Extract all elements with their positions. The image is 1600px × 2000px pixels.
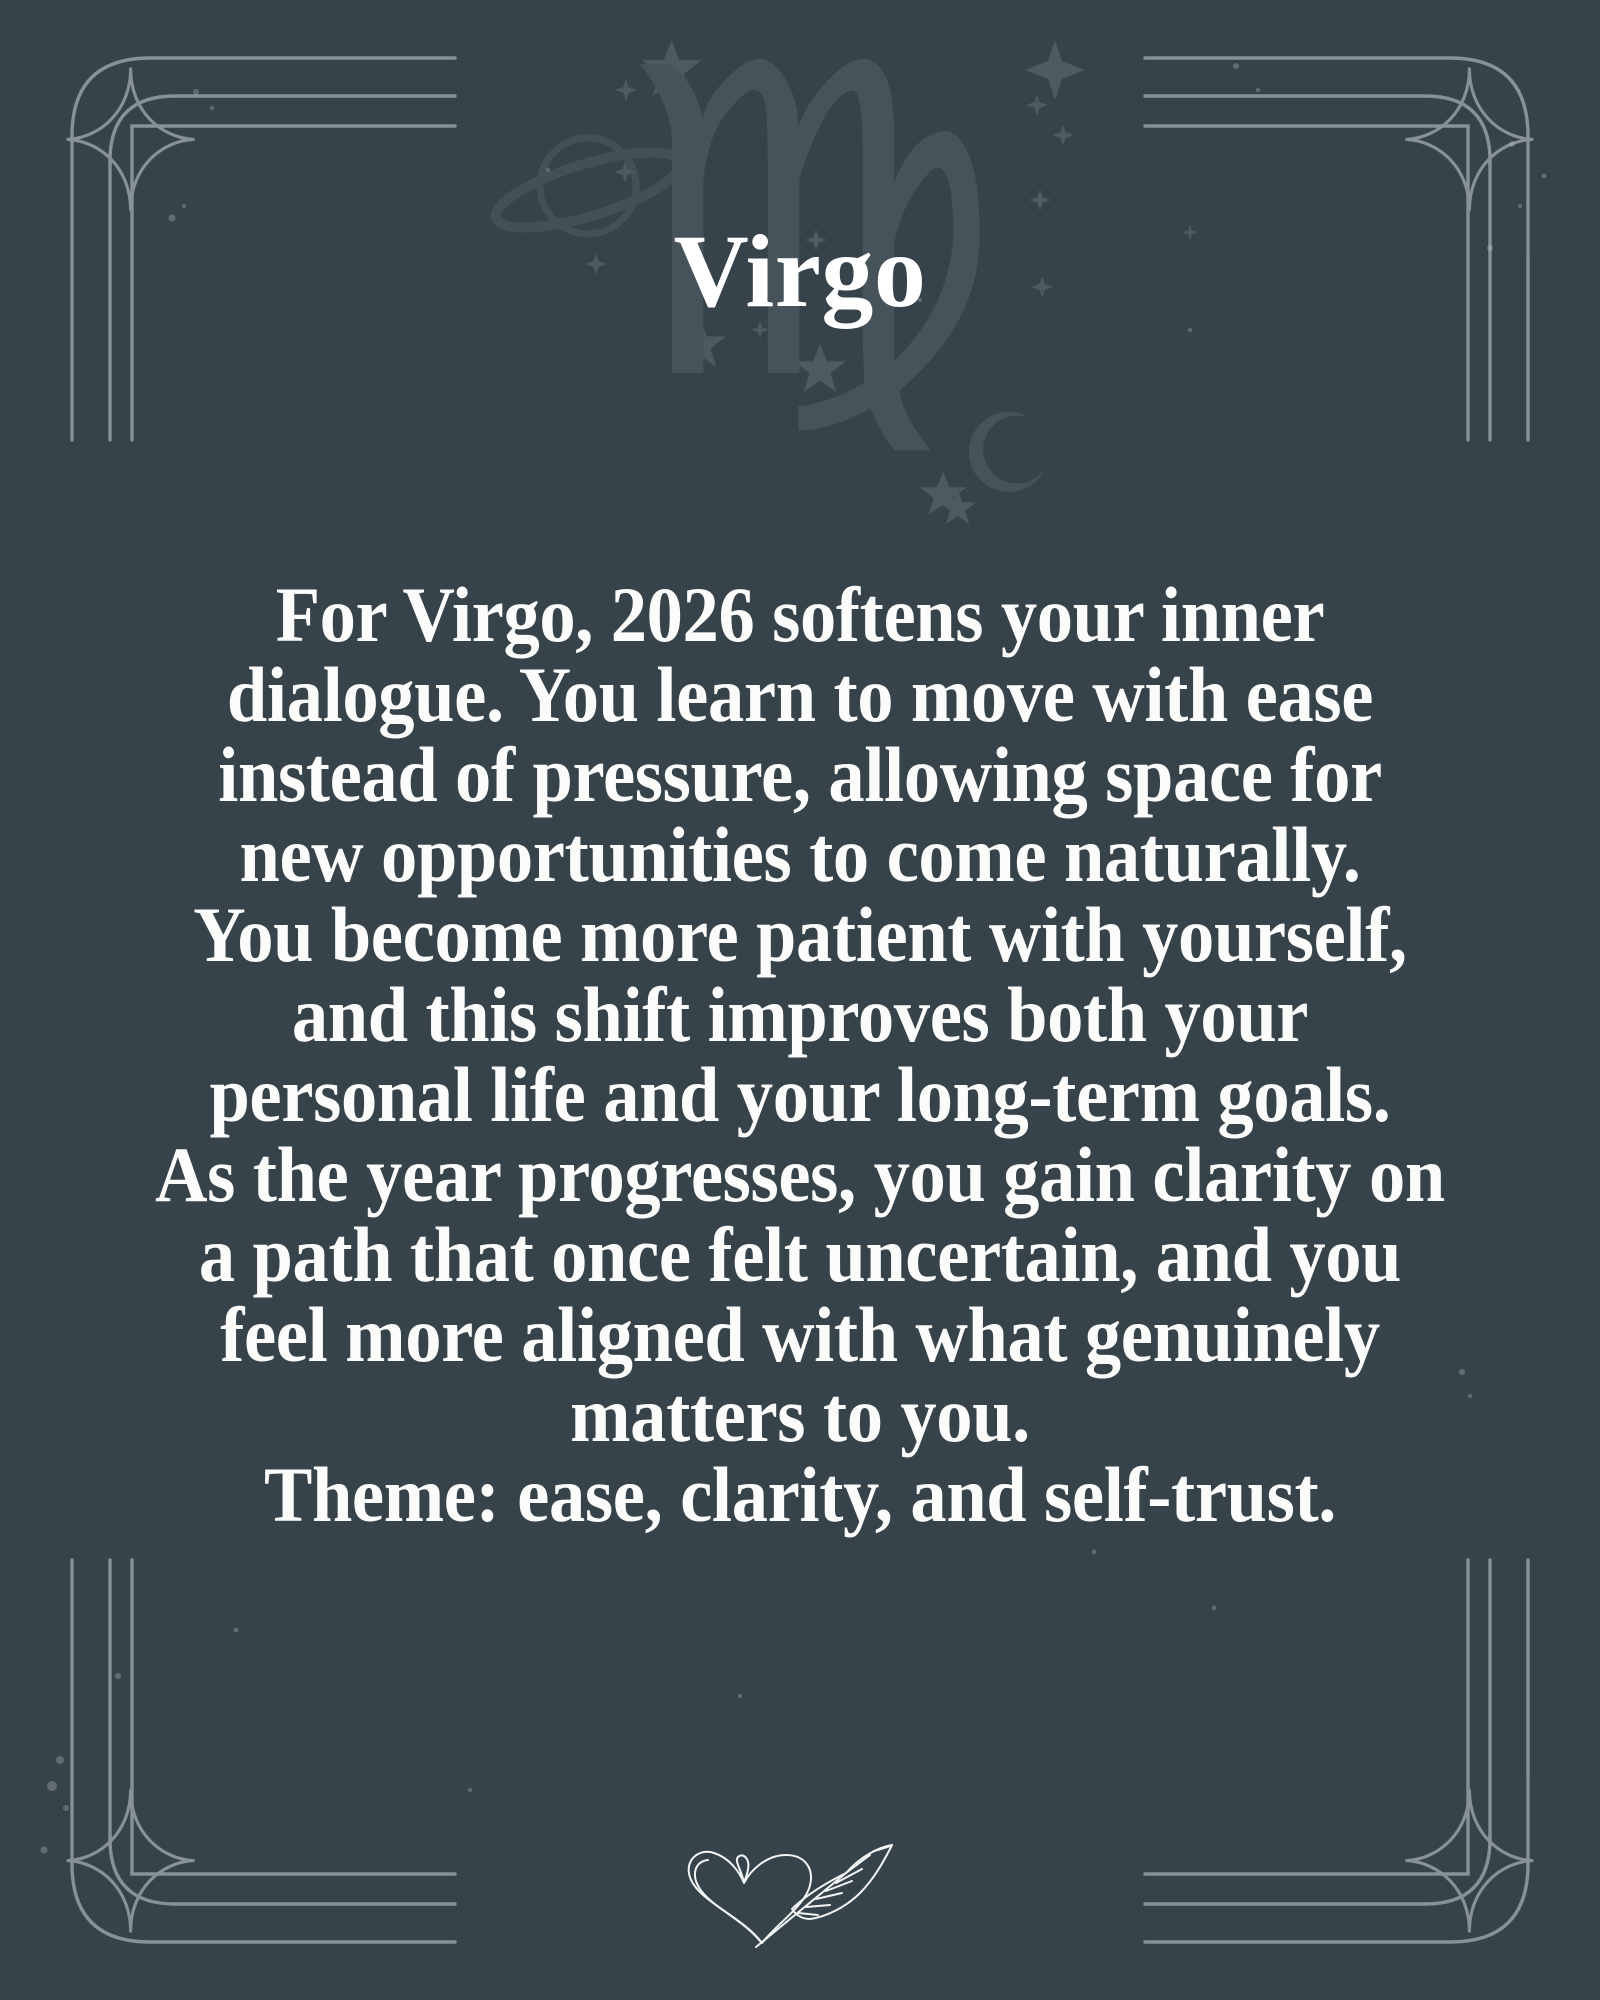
footer-logo [0,1839,1600,1964]
page-title: Virgo [674,220,927,324]
horoscope-body-text: For Virgo, 2026 softens your inner dialo… [154,575,1447,1535]
horoscope-body-container: For Virgo, 2026 softens your inner dialo… [105,575,1495,1535]
crescent-moon-icon [958,402,1058,503]
zodiac-card: ♍ Virgo For Virgo, 2026 softens your inn… [0,0,1600,2000]
heart-quill-logo [670,1839,930,1959]
page-title-container: Virgo [0,150,1600,393]
